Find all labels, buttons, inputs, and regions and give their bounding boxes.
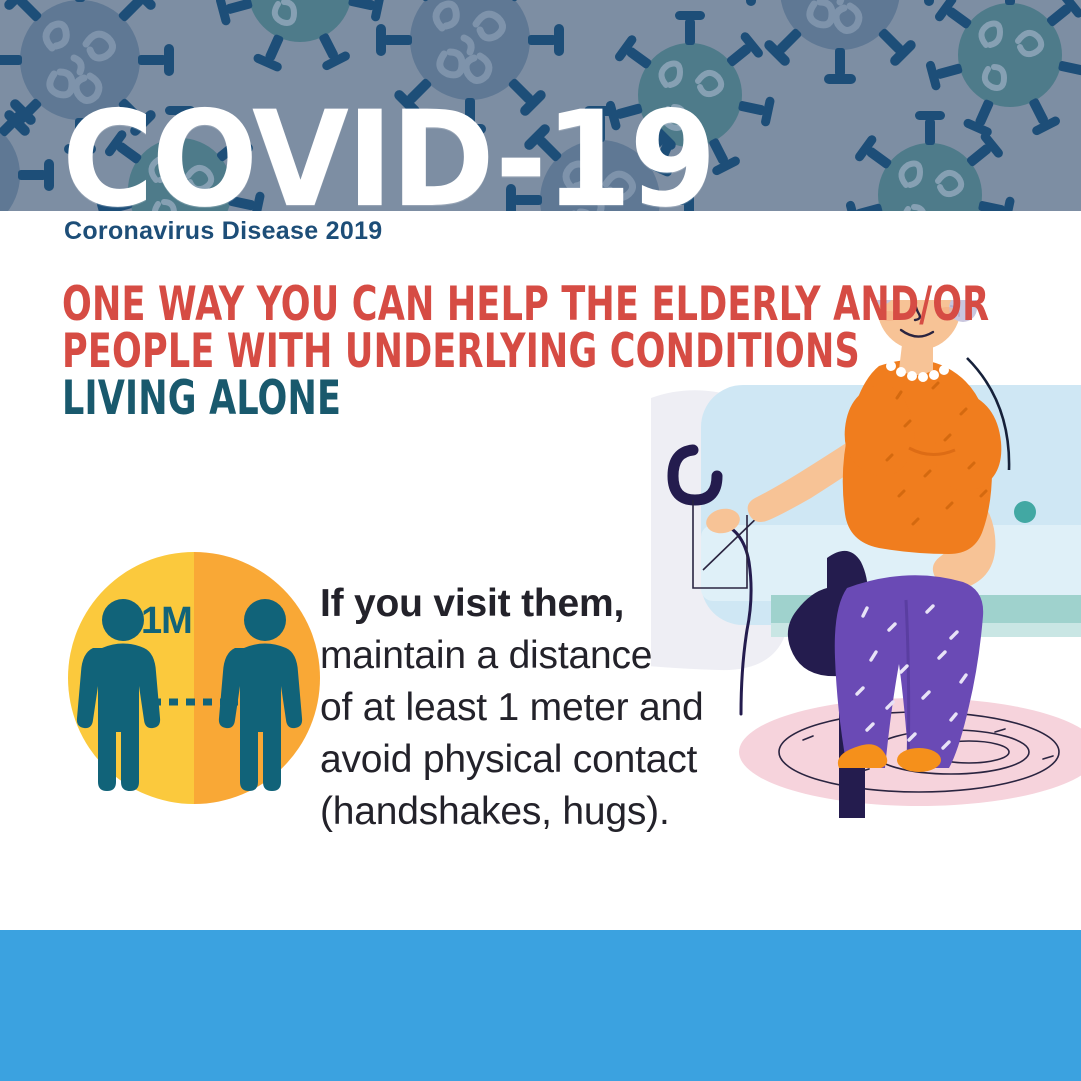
page-title: COVID-19 bbox=[62, 93, 714, 211]
page-subtitle: Coronavirus Disease 2019 bbox=[64, 217, 382, 246]
social-distancing-icon bbox=[68, 552, 320, 804]
headline-line-3: LIVING ALONE bbox=[62, 371, 813, 426]
covid19-infographic-poster: COVID-19 Coronavirus Disease 2019 bbox=[0, 0, 1081, 1081]
header-band: COVID-19 bbox=[0, 0, 1081, 211]
body-line-4: avoid physical contact bbox=[320, 734, 780, 786]
body-lead: If you visit them, bbox=[320, 578, 780, 630]
teal-dot-accent bbox=[1014, 501, 1036, 523]
body-line-2: maintain a distance bbox=[320, 630, 780, 682]
body-line-3: of at least 1 meter and bbox=[320, 682, 780, 734]
right-shoe bbox=[897, 748, 941, 772]
body-copy: If you visit them, maintain a distance o… bbox=[320, 578, 780, 838]
body-line-5: (handshakes, hugs). bbox=[320, 786, 780, 838]
distance-label: 1M bbox=[141, 600, 192, 643]
headline: ONE WAY YOU CAN HELP THE ELDERLY AND/OR … bbox=[62, 277, 852, 418]
footer-band bbox=[0, 930, 1081, 1081]
